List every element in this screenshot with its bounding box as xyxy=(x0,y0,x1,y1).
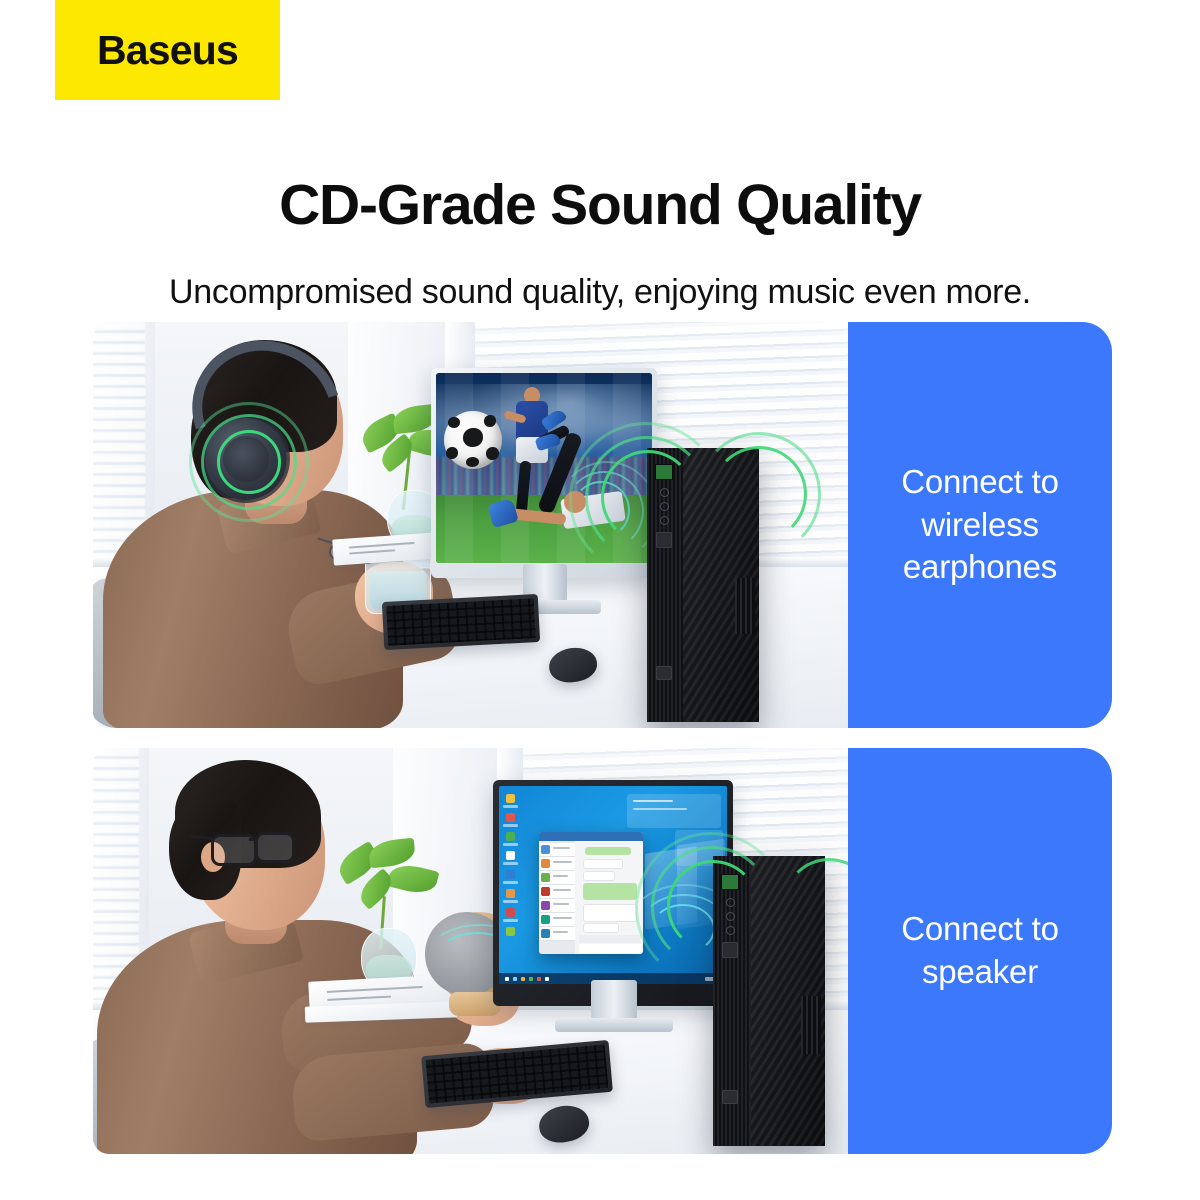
scene-photo-earphones xyxy=(93,322,848,728)
contact-name xyxy=(553,917,572,919)
chat-contact-item[interactable] xyxy=(539,871,575,885)
ball-patch xyxy=(466,457,479,467)
magazine-line xyxy=(349,549,395,554)
taskbar-icon[interactable] xyxy=(513,977,517,981)
contact-name xyxy=(553,889,571,891)
chat-contact-item[interactable] xyxy=(539,899,575,913)
contact-name xyxy=(553,847,570,849)
eyeglasses-lens-right xyxy=(255,832,295,863)
caption-panel-speaker: Connect to speaker xyxy=(848,748,1112,1154)
desktop-icon-label xyxy=(503,900,518,903)
monitor-stand-base xyxy=(555,1018,673,1032)
desktop-icon-label xyxy=(503,824,518,827)
chat-window-titlebar[interactable] xyxy=(539,832,643,841)
taskbar-icon[interactable] xyxy=(545,977,549,981)
contact-name xyxy=(553,931,568,933)
eyeglasses-bridge xyxy=(249,838,257,841)
caption-text: Connect to speaker xyxy=(848,908,1112,994)
caption-text: Connect to wireless earphones xyxy=(848,461,1112,590)
wireless-signal-wave-right xyxy=(697,432,821,556)
chat-contact-item[interactable] xyxy=(539,913,575,927)
wireless-signal-wave xyxy=(635,832,787,984)
feature-card-speaker: Connect to speaker xyxy=(93,748,1112,1154)
contact-name xyxy=(553,875,568,877)
wireless-keyboard xyxy=(382,594,540,650)
desktop-icon-label xyxy=(503,843,518,846)
desktop-icon[interactable] xyxy=(506,870,515,879)
headphone-glow-ring-3 xyxy=(189,402,309,522)
contact-name xyxy=(553,861,572,863)
desktop-icon[interactable] xyxy=(506,908,515,917)
chat-contact-item[interactable] xyxy=(539,857,575,871)
desktop-icon-label xyxy=(503,805,518,808)
chat-message-outgoing xyxy=(583,883,637,900)
ball-patch xyxy=(463,428,483,447)
contact-name xyxy=(553,903,569,905)
desktop-icon[interactable] xyxy=(506,889,515,898)
desktop-icon-label xyxy=(503,862,518,865)
widget-line xyxy=(633,800,673,802)
contact-avatar xyxy=(541,901,550,910)
brand-logo-badge: Baseus xyxy=(55,0,280,100)
desktop-icon[interactable] xyxy=(506,813,515,822)
magazine-line xyxy=(327,986,423,993)
page-subtitle: Uncompromised sound quality, enjoying mu… xyxy=(0,272,1200,313)
page-title: CD-Grade Sound Quality xyxy=(0,175,1200,237)
chat-message-outgoing xyxy=(585,847,631,855)
chat-contact-item[interactable] xyxy=(539,927,575,941)
contact-avatar xyxy=(541,873,550,882)
desktop-icon[interactable] xyxy=(506,927,515,936)
chat-message-incoming xyxy=(583,871,615,881)
taskbar-icon[interactable] xyxy=(537,977,541,981)
contact-avatar xyxy=(541,887,550,896)
chat-contact-item[interactable] xyxy=(539,885,575,899)
ball-patch xyxy=(446,447,458,459)
contact-avatar xyxy=(541,859,550,868)
tower-vent xyxy=(801,996,821,1054)
monitor-stand-neck xyxy=(591,980,637,1022)
caption-panel-wireless-earphones: Connect to wireless earphones xyxy=(848,322,1112,728)
taskbar-icon[interactable] xyxy=(529,977,533,981)
chat-message-incoming xyxy=(583,923,619,933)
ball-patch xyxy=(484,415,496,427)
desktop-icon[interactable] xyxy=(506,851,515,860)
keyboard-keys xyxy=(386,598,536,646)
chat-contact-item[interactable] xyxy=(539,843,575,857)
taskbar-icon[interactable] xyxy=(521,977,525,981)
ball-patch xyxy=(448,417,460,428)
contact-avatar xyxy=(541,915,550,924)
ball-patch xyxy=(486,447,499,460)
desktop-icon[interactable] xyxy=(506,832,515,841)
widget-line xyxy=(633,808,687,810)
soccer-ball xyxy=(444,411,502,469)
taskbar-icon[interactable] xyxy=(505,977,509,981)
desktop-icon[interactable] xyxy=(506,794,515,803)
tower-button-lower xyxy=(656,666,672,680)
contact-avatar xyxy=(541,845,550,854)
desktop-icon-label xyxy=(503,919,518,922)
chat-message-incoming xyxy=(583,859,623,869)
magazine-line xyxy=(327,996,391,1001)
feature-card-wireless-earphones: Connect to wireless earphones xyxy=(93,322,1112,728)
magazine-line xyxy=(349,542,415,549)
contact-avatar xyxy=(541,929,550,938)
tower-button-lower xyxy=(722,1090,738,1104)
brand-name: Baseus xyxy=(97,30,238,71)
tower-vent xyxy=(735,578,755,634)
desktop-icon-label xyxy=(503,881,518,884)
scene-photo-speaker xyxy=(93,748,848,1154)
